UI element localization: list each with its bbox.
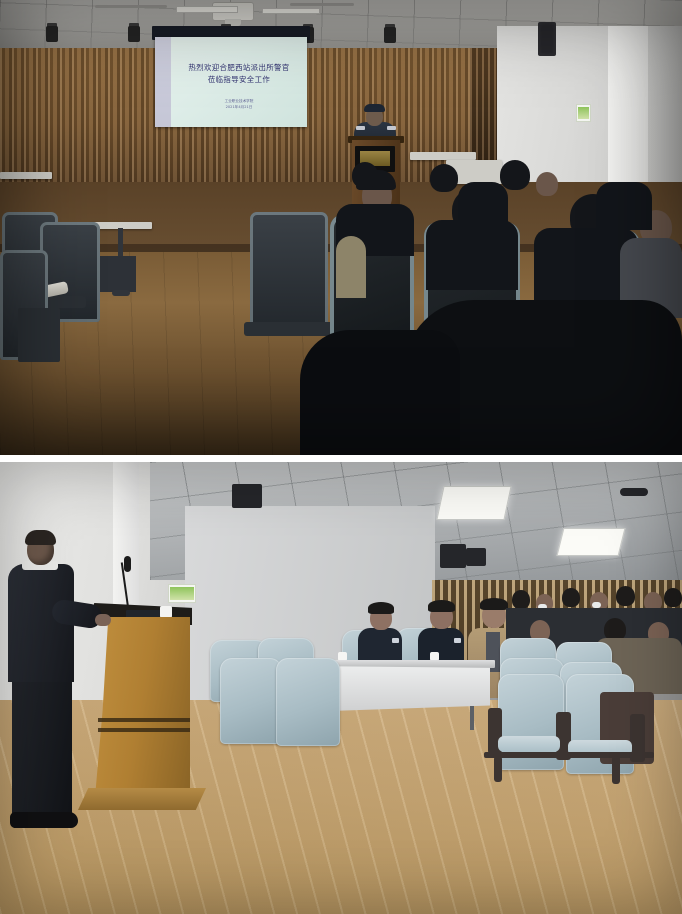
slide-title-line-1: 热烈欢迎合肥西站派出所警官 bbox=[177, 63, 301, 73]
audience-body bbox=[426, 220, 518, 290]
seat-row-rail bbox=[484, 752, 654, 758]
auditorium-seat-foreground bbox=[276, 658, 340, 746]
track-spotlight-icon bbox=[46, 26, 58, 42]
audience-head bbox=[616, 586, 635, 606]
audience-head bbox=[664, 588, 682, 607]
photo-presenter-at-podium-with-officers bbox=[0, 462, 682, 914]
ceiling-fan-icon bbox=[620, 488, 648, 496]
auditorium-seat-foreground bbox=[220, 658, 282, 744]
lectern-base bbox=[78, 788, 206, 810]
seated-officer-hair bbox=[368, 602, 394, 614]
slide-subtitle-line-2: 2021年4月21日 bbox=[177, 105, 301, 110]
uniform-shoulder-badge bbox=[454, 638, 461, 643]
audience-head-back-row bbox=[536, 172, 558, 196]
audience-head-back-row bbox=[500, 160, 530, 190]
recessed-panel-light bbox=[557, 528, 626, 556]
wall-speaker-icon bbox=[538, 22, 556, 56]
wall-speaker-icon bbox=[232, 484, 262, 508]
audience-body-back-row bbox=[458, 182, 508, 226]
seat-armrest bbox=[244, 322, 334, 336]
wall-speaker-icon bbox=[466, 548, 486, 566]
green-safety-sign bbox=[168, 584, 196, 603]
lectern-trim-line bbox=[98, 718, 190, 722]
photo-police-officer-lecture-wide-shot: 热烈欢迎合肥西站派出所警官 莅临指导安全工作 工业职业技术学院 2021年4月2… bbox=[0, 0, 682, 455]
presenter-hair bbox=[25, 530, 56, 545]
seat-cushion bbox=[498, 736, 560, 752]
projection-screen: 热烈欢迎合肥西站派出所警官 莅临指导安全工作 工业职业技术学院 2021年4月2… bbox=[155, 37, 307, 127]
slide-subtitle-line-1: 工业职业技术学院 bbox=[177, 99, 301, 104]
presenter-shoe bbox=[10, 812, 78, 828]
ceiling-strip-light bbox=[176, 6, 238, 13]
photo-document-page: 热烈欢迎合肥西站派出所警官 莅临指导安全工作 工业职业技术学院 2021年4月2… bbox=[0, 0, 682, 914]
slide-side-band bbox=[155, 37, 171, 127]
audience-head-back-row bbox=[352, 162, 378, 188]
seated-civilian-hair bbox=[480, 598, 508, 610]
cart-caster bbox=[112, 290, 130, 296]
microphone-head-icon bbox=[124, 556, 131, 572]
audience-body-back-row bbox=[596, 182, 652, 230]
uniform-epaulet bbox=[356, 126, 365, 130]
ceiling-fan-icon bbox=[95, 5, 167, 8]
audience-head bbox=[562, 588, 580, 607]
recessed-panel-light bbox=[436, 486, 511, 520]
track-spotlight-icon bbox=[128, 26, 140, 42]
ceiling-fan-icon bbox=[290, 3, 354, 6]
cart-panel bbox=[96, 256, 136, 292]
uniform-epaulet bbox=[387, 126, 396, 130]
seat-pedestal bbox=[18, 308, 60, 362]
slide-title-line-2: 莅临指导安全工作 bbox=[177, 75, 301, 85]
audience-head-back-row bbox=[430, 164, 458, 192]
lectern bbox=[95, 617, 190, 797]
presenter-hand bbox=[95, 614, 111, 626]
seat-leg bbox=[612, 756, 620, 784]
presenter-legs bbox=[12, 674, 72, 819]
green-safety-sign bbox=[576, 104, 591, 122]
lectern-trim-line bbox=[98, 728, 190, 732]
foreground-audience-silhouette bbox=[300, 330, 460, 455]
police-peaked-cap bbox=[364, 104, 385, 112]
track-spotlight-icon bbox=[384, 27, 396, 43]
empty-seat bbox=[250, 212, 328, 332]
uniform-shoulder-badge bbox=[392, 638, 399, 643]
folding-cart-top bbox=[0, 172, 52, 179]
audience-head bbox=[512, 590, 530, 609]
audience-body-tan-coat bbox=[336, 236, 366, 298]
side-table bbox=[410, 152, 476, 160]
ceiling-strip-light bbox=[262, 8, 320, 14]
wall-speaker-icon bbox=[440, 544, 466, 568]
table-leg bbox=[470, 706, 474, 730]
seat-leg bbox=[494, 756, 502, 782]
seated-officer-hair bbox=[428, 600, 455, 612]
photo-separator bbox=[0, 455, 682, 462]
